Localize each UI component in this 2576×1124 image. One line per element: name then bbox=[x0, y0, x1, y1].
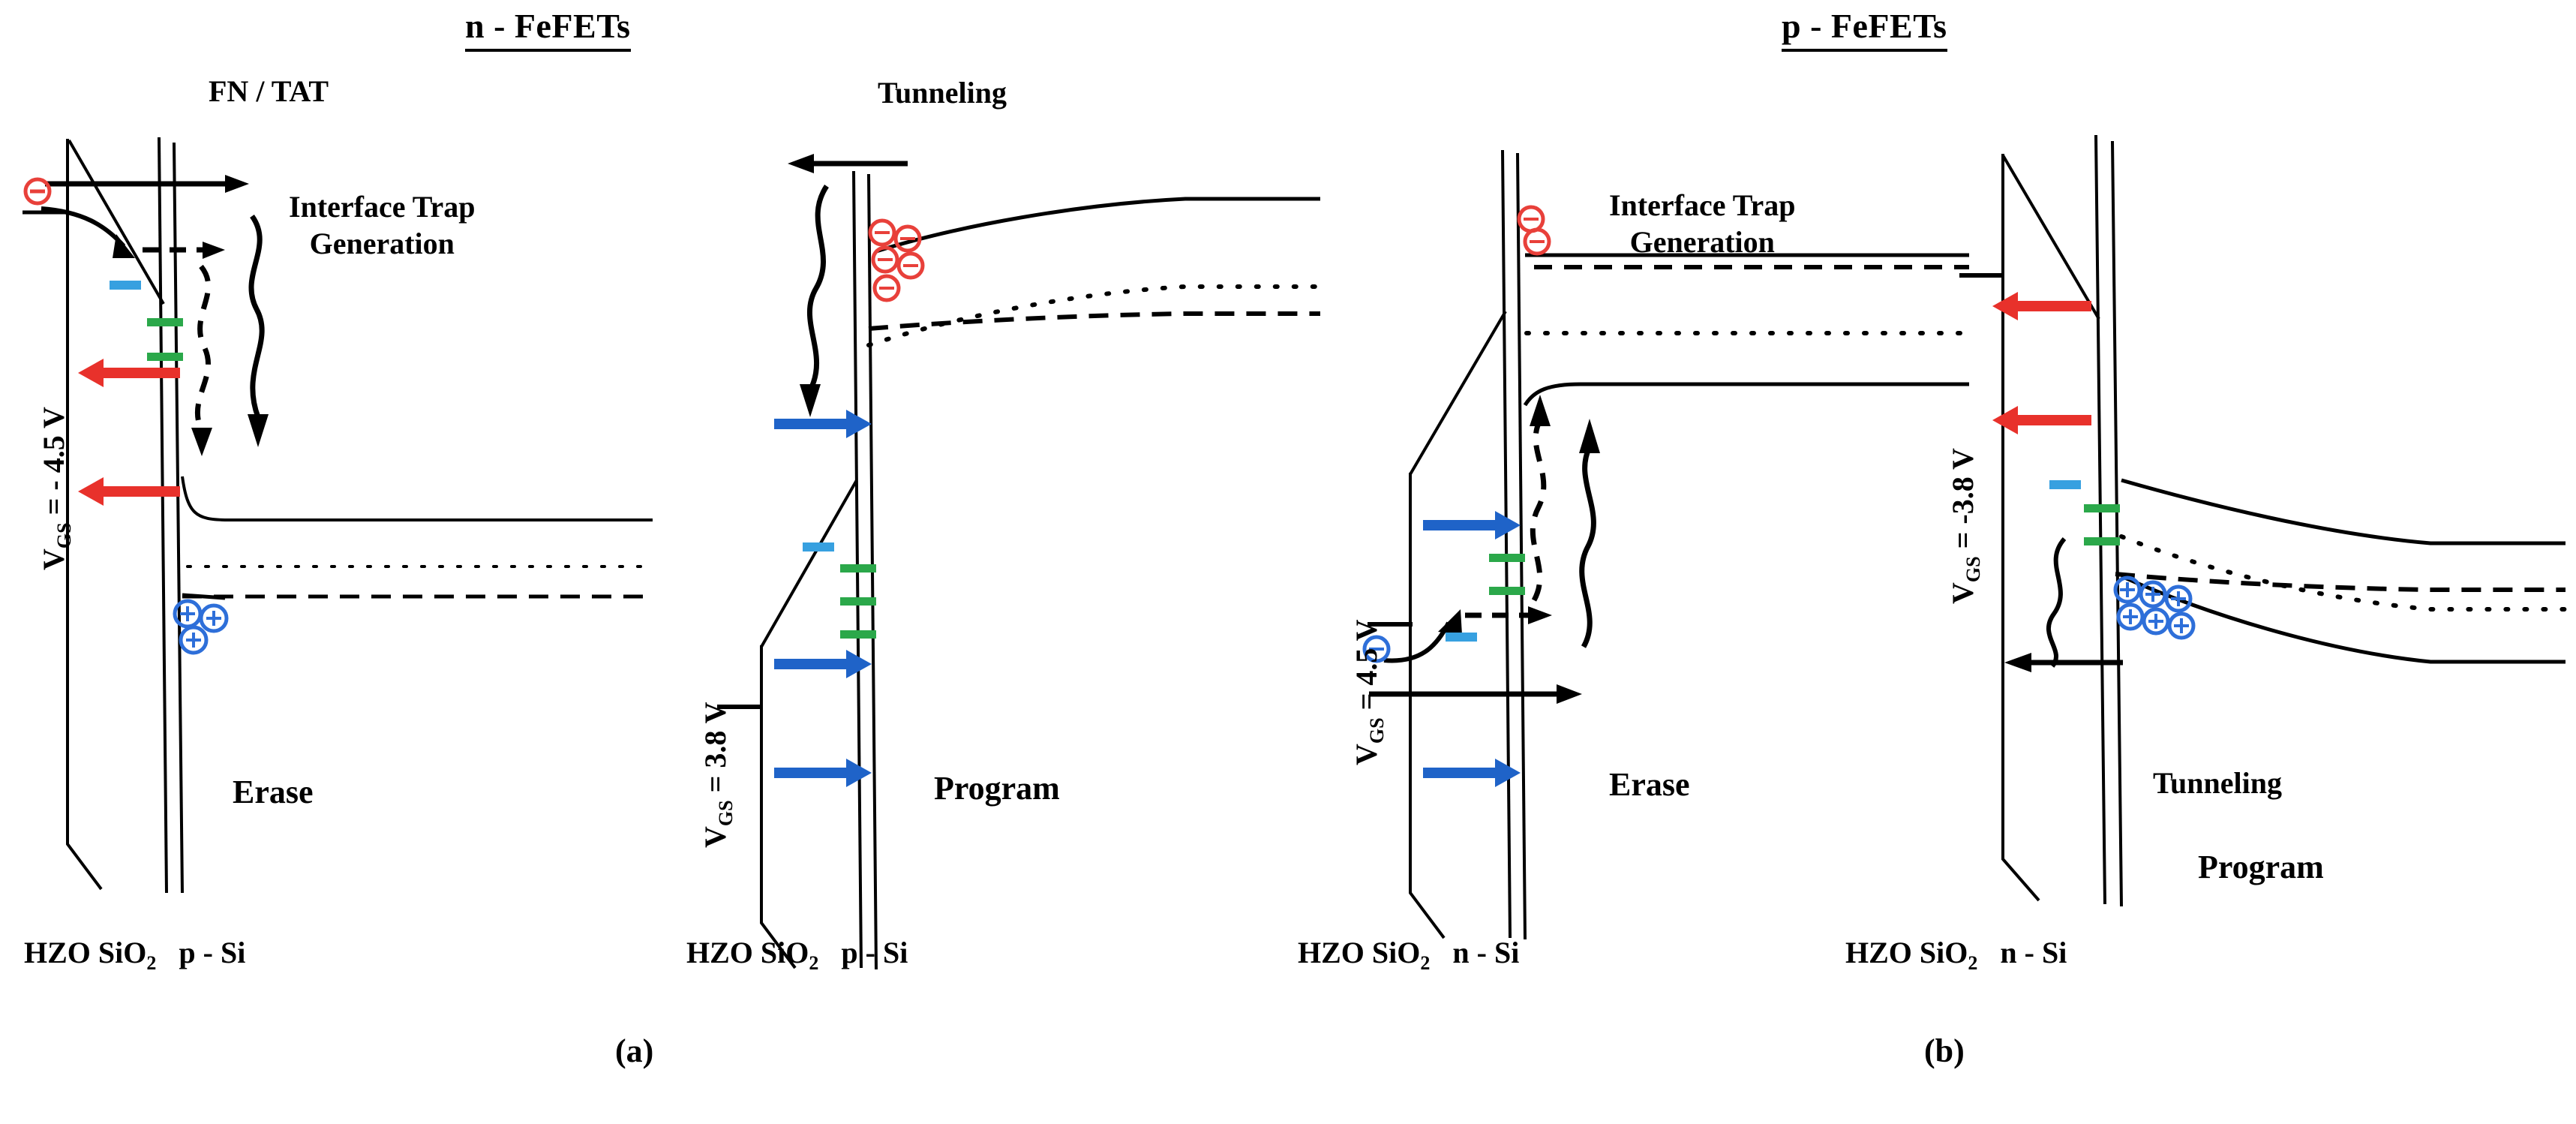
mechanism-label-tunneling-p2: Tunneling bbox=[878, 75, 1007, 112]
bias-label-p2: VGS = 3.8 V bbox=[698, 702, 737, 848]
electron-level-marker-p1 bbox=[110, 281, 141, 290]
tunneling-wavy-p2 bbox=[809, 186, 827, 390]
sio2-right-edge-p4 bbox=[2112, 141, 2121, 906]
axis-arrowhead-p3 bbox=[1557, 684, 1582, 704]
tunneling-arrowhead-p2 bbox=[788, 154, 814, 173]
polarization-arrowhead-p3-1 bbox=[1495, 511, 1521, 539]
polarization-arrowhead-p1-1 bbox=[78, 359, 104, 387]
electron-level-marker-p3 bbox=[1446, 633, 1477, 642]
sio2-right-edge-p1 bbox=[174, 143, 182, 893]
tunnel-dashed-arrowhead-p3 bbox=[1528, 606, 1552, 624]
stack-label-p1: HZO SiO2 p - Si bbox=[24, 935, 245, 975]
hzo-conduction-slope-p1 bbox=[69, 140, 164, 304]
panel-2-bands bbox=[660, 0, 1335, 998]
charge-interface-group-p1 bbox=[175, 601, 227, 653]
charge-hole-group-p3 bbox=[1519, 207, 1549, 254]
electron-level-marker-p4 bbox=[2049, 480, 2081, 489]
polarization-arrowhead-p4-2 bbox=[1992, 406, 2018, 434]
charge-hole-gate-p1 bbox=[26, 179, 50, 203]
hzo-conduction-slope-p3 bbox=[1410, 311, 1506, 474]
mechanism-label-tunneling-p4: Tunneling bbox=[2153, 765, 2282, 802]
bias-label-p3: VGS = 4.5 V bbox=[1349, 619, 1389, 765]
bias-label-p1: VGS = - 4.5 V bbox=[36, 407, 76, 570]
sio2-left-edge-p1 bbox=[159, 137, 167, 893]
mechanism-label-fn-tat: FN / TAT bbox=[209, 74, 329, 110]
trap-level-marker-p3-1 bbox=[1489, 587, 1525, 595]
electron-emission-curve-p3 bbox=[1384, 623, 1449, 660]
trap-assisted-wavy-p3 bbox=[1533, 420, 1544, 600]
polarization-arrowhead-p2-1 bbox=[846, 410, 872, 438]
subfigure-label-b: (b) bbox=[1924, 1032, 1965, 1070]
fn-tat-arrowhead-p1 bbox=[225, 175, 249, 193]
trap-level-marker-p4-1 bbox=[2084, 504, 2120, 512]
electron-emission-arrowhead-p3 bbox=[1438, 609, 1462, 635]
trap-level-marker-p1-1 bbox=[147, 318, 183, 326]
interface-trap-wavy-p1 bbox=[251, 216, 262, 417]
interface-trap-arrowhead-p3 bbox=[1579, 419, 1600, 453]
si-conduction-band-p2 bbox=[876, 199, 1320, 251]
trap-level-marker-p2-3 bbox=[840, 630, 876, 639]
operation-label-p1: Erase bbox=[233, 773, 314, 811]
hzo-left-edge-p2 bbox=[761, 645, 795, 968]
polarization-arrow-group-p1 bbox=[78, 359, 180, 506]
si-conduction-band-p1 bbox=[182, 476, 653, 520]
interface-trap-arrowhead-p1 bbox=[248, 414, 269, 447]
stack-label-p4: HZO SiO2 n - Si bbox=[1845, 935, 2067, 975]
axis-arrowhead-p4 bbox=[2004, 653, 2031, 672]
sio2-left-edge-p4 bbox=[2096, 135, 2105, 904]
tunneling-wavy-p4 bbox=[2049, 539, 2064, 666]
operation-label-p4: Program bbox=[2198, 848, 2324, 886]
polarization-arrow-group-p4 bbox=[1992, 292, 2091, 434]
sio2-left-edge-p3 bbox=[1503, 150, 1510, 938]
trap-assisted-wavy-p1 bbox=[197, 266, 208, 429]
trap-level-marker-p4-2 bbox=[2084, 537, 2120, 545]
interface-trap-wavy-p3 bbox=[1582, 447, 1594, 647]
stack-label-p2: HZO SiO2 p - Si bbox=[686, 935, 908, 975]
bias-label-p4: VGS = -3.8 V bbox=[1945, 448, 1985, 604]
trap-assisted-arrowhead-p3 bbox=[1530, 395, 1551, 426]
charge-hole-group-p4 bbox=[2115, 578, 2193, 638]
trap-level-marker-p2-1 bbox=[840, 564, 876, 573]
sio2-right-edge-p3 bbox=[1518, 153, 1525, 939]
si-conduction-band-p4 bbox=[2121, 480, 2565, 543]
trap-level-marker-p3-2 bbox=[1489, 554, 1525, 562]
tunnel-dashed-arrowhead-p1 bbox=[203, 242, 225, 259]
si-fermi-level-p4 bbox=[2121, 536, 2565, 609]
operation-label-p2: Program bbox=[934, 769, 1060, 807]
si-valence-band-p3 bbox=[1525, 384, 1969, 405]
mechanism-label-interface-trap-p3: Interface TrapGeneration bbox=[1609, 188, 1795, 261]
hzo-left-edge-p3 bbox=[1410, 473, 1444, 938]
operation-label-p3: Erase bbox=[1609, 765, 1690, 804]
panel-1-bands bbox=[0, 0, 675, 975]
stack-label-p3: HZO SiO2 n - Si bbox=[1298, 935, 1519, 975]
trap-assisted-arrowhead-p1 bbox=[191, 428, 212, 456]
hzo-conduction-slope-p2 bbox=[761, 480, 857, 647]
mechanism-label-interface-trap-p1: Interface TrapGeneration bbox=[289, 189, 475, 263]
trap-level-marker-p2-2 bbox=[840, 597, 876, 606]
figure-canvas: n - FeFETs p - FeFETs (a) (b) bbox=[0, 0, 2576, 1124]
polarization-arrowhead-p4-1 bbox=[1992, 292, 2018, 320]
electron-level-marker-p2 bbox=[803, 542, 834, 551]
panel-3-bands bbox=[1309, 0, 1984, 998]
polarization-arrowhead-p1-2 bbox=[78, 477, 104, 506]
charge-hole-group-p2 bbox=[870, 221, 923, 300]
trap-level-marker-p1-2 bbox=[147, 353, 183, 361]
hzo-left-edge-p4 bbox=[2003, 154, 2039, 900]
tunneling-wavy-arrowhead-p2 bbox=[800, 384, 821, 417]
si-valence-band-p2 bbox=[869, 314, 1320, 329]
subfigure-label-a: (a) bbox=[615, 1032, 653, 1070]
